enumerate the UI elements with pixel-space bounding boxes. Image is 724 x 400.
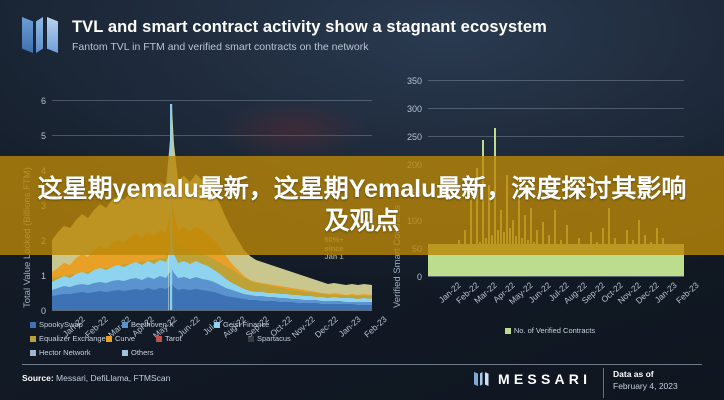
infographic-root: TVL and smart contract activity show a s… xyxy=(0,0,724,400)
data-as-of-value: February 4, 2023 xyxy=(613,381,678,391)
legend-swatch-geist xyxy=(214,322,220,328)
legend-swatch-spookyswap xyxy=(30,322,36,328)
legend-item-others[interactable]: Others xyxy=(122,348,214,357)
legend-label-geist: Geist Finance xyxy=(223,320,269,329)
tvl-x-axis xyxy=(52,310,372,311)
messari-logo-icon xyxy=(22,17,68,53)
legend-label-tarot: Tarot xyxy=(165,334,182,343)
legend-item-hector[interactable]: Hector Network xyxy=(30,348,122,357)
tvl-ytick-1: 1 xyxy=(24,271,46,281)
contracts-ytick-350: 350 xyxy=(396,76,422,86)
page-subtitle: Fantom TVL in FTM and verified smart con… xyxy=(72,41,368,53)
legend-swatch-tarot xyxy=(156,336,162,342)
legend-swatch-others xyxy=(122,350,128,356)
data-as-of-label: Data as of xyxy=(613,369,654,379)
contracts-ytick-250: 250 xyxy=(396,132,422,142)
legend-item-curve[interactable]: Curve xyxy=(106,334,156,343)
contracts-ytick-300: 300 xyxy=(396,104,422,114)
contracts-x-axis xyxy=(428,276,684,277)
messari-wordmark: MESSARI xyxy=(498,371,591,387)
legend-label-verified-contracts: No. of Verified Contracts xyxy=(514,326,595,335)
legend-label-others: Others xyxy=(131,348,154,357)
source-value: Messari, DefiLlama, FTMScan xyxy=(56,373,170,383)
legend-item-beethoven[interactable]: Beethoven X xyxy=(122,320,214,329)
footer-vertical-divider xyxy=(603,368,604,398)
contracts-ytick-0: 0 xyxy=(396,272,422,282)
legend-swatch-hector xyxy=(30,350,36,356)
source-label: Source: xyxy=(22,373,54,383)
legend-item-geist[interactable]: Geist Finance xyxy=(214,320,306,329)
legend-label-hector: Hector Network xyxy=(39,348,91,357)
messari-brand-icon xyxy=(474,372,491,386)
tvl-legend: SpookySwap Beethoven X Geist Finance Equ… xyxy=(30,320,376,362)
legend-item-verified-contracts[interactable]: No. of Verified Contracts xyxy=(505,326,595,335)
legend-swatch-spartacus xyxy=(248,336,254,342)
legend-label-spartacus: Spartacus xyxy=(257,334,291,343)
tvl-ytick-0: 0 xyxy=(24,306,46,316)
legend-label-spookyswap: SpookySwap xyxy=(39,320,83,329)
legend-label-equalizer: Equalizer Exchange xyxy=(39,334,106,343)
source-note: Source: Messari, DefiLlama, FTMScan xyxy=(22,373,170,383)
tvl-ytick-5: 5 xyxy=(24,131,46,141)
contracts-legend: No. of Verified Contracts xyxy=(382,326,718,335)
legend-item-spartacus[interactable]: Spartacus xyxy=(248,334,340,343)
legend-swatch-equalizer xyxy=(30,336,36,342)
header: TVL and smart contract activity show a s… xyxy=(0,0,724,64)
messari-brand: MESSARI xyxy=(474,371,591,387)
legend-swatch-verified-contracts xyxy=(505,328,511,334)
legend-item-spookyswap[interactable]: SpookySwap xyxy=(30,320,122,329)
legend-label-curve: Curve xyxy=(115,334,135,343)
overlay-banner-text: 这星期yemalu最新，这星期Yemalu最新，深度探讨其影响及观点 xyxy=(32,174,692,237)
legend-swatch-curve xyxy=(106,336,112,342)
page-title: TVL and smart contract activity show a s… xyxy=(72,18,547,37)
legend-item-equalizer[interactable]: Equalizer Exchange xyxy=(30,334,106,343)
tvl-ytick-6: 6 xyxy=(24,96,46,106)
footer-divider xyxy=(22,364,702,365)
overlay-banner: 这星期yemalu最新，这星期Yemalu最新，深度探讨其影响及观点 xyxy=(0,156,724,255)
legend-item-tarot[interactable]: Tarot xyxy=(156,334,248,343)
legend-swatch-beethoven xyxy=(122,322,128,328)
legend-label-beethoven: Beethoven X xyxy=(131,320,174,329)
